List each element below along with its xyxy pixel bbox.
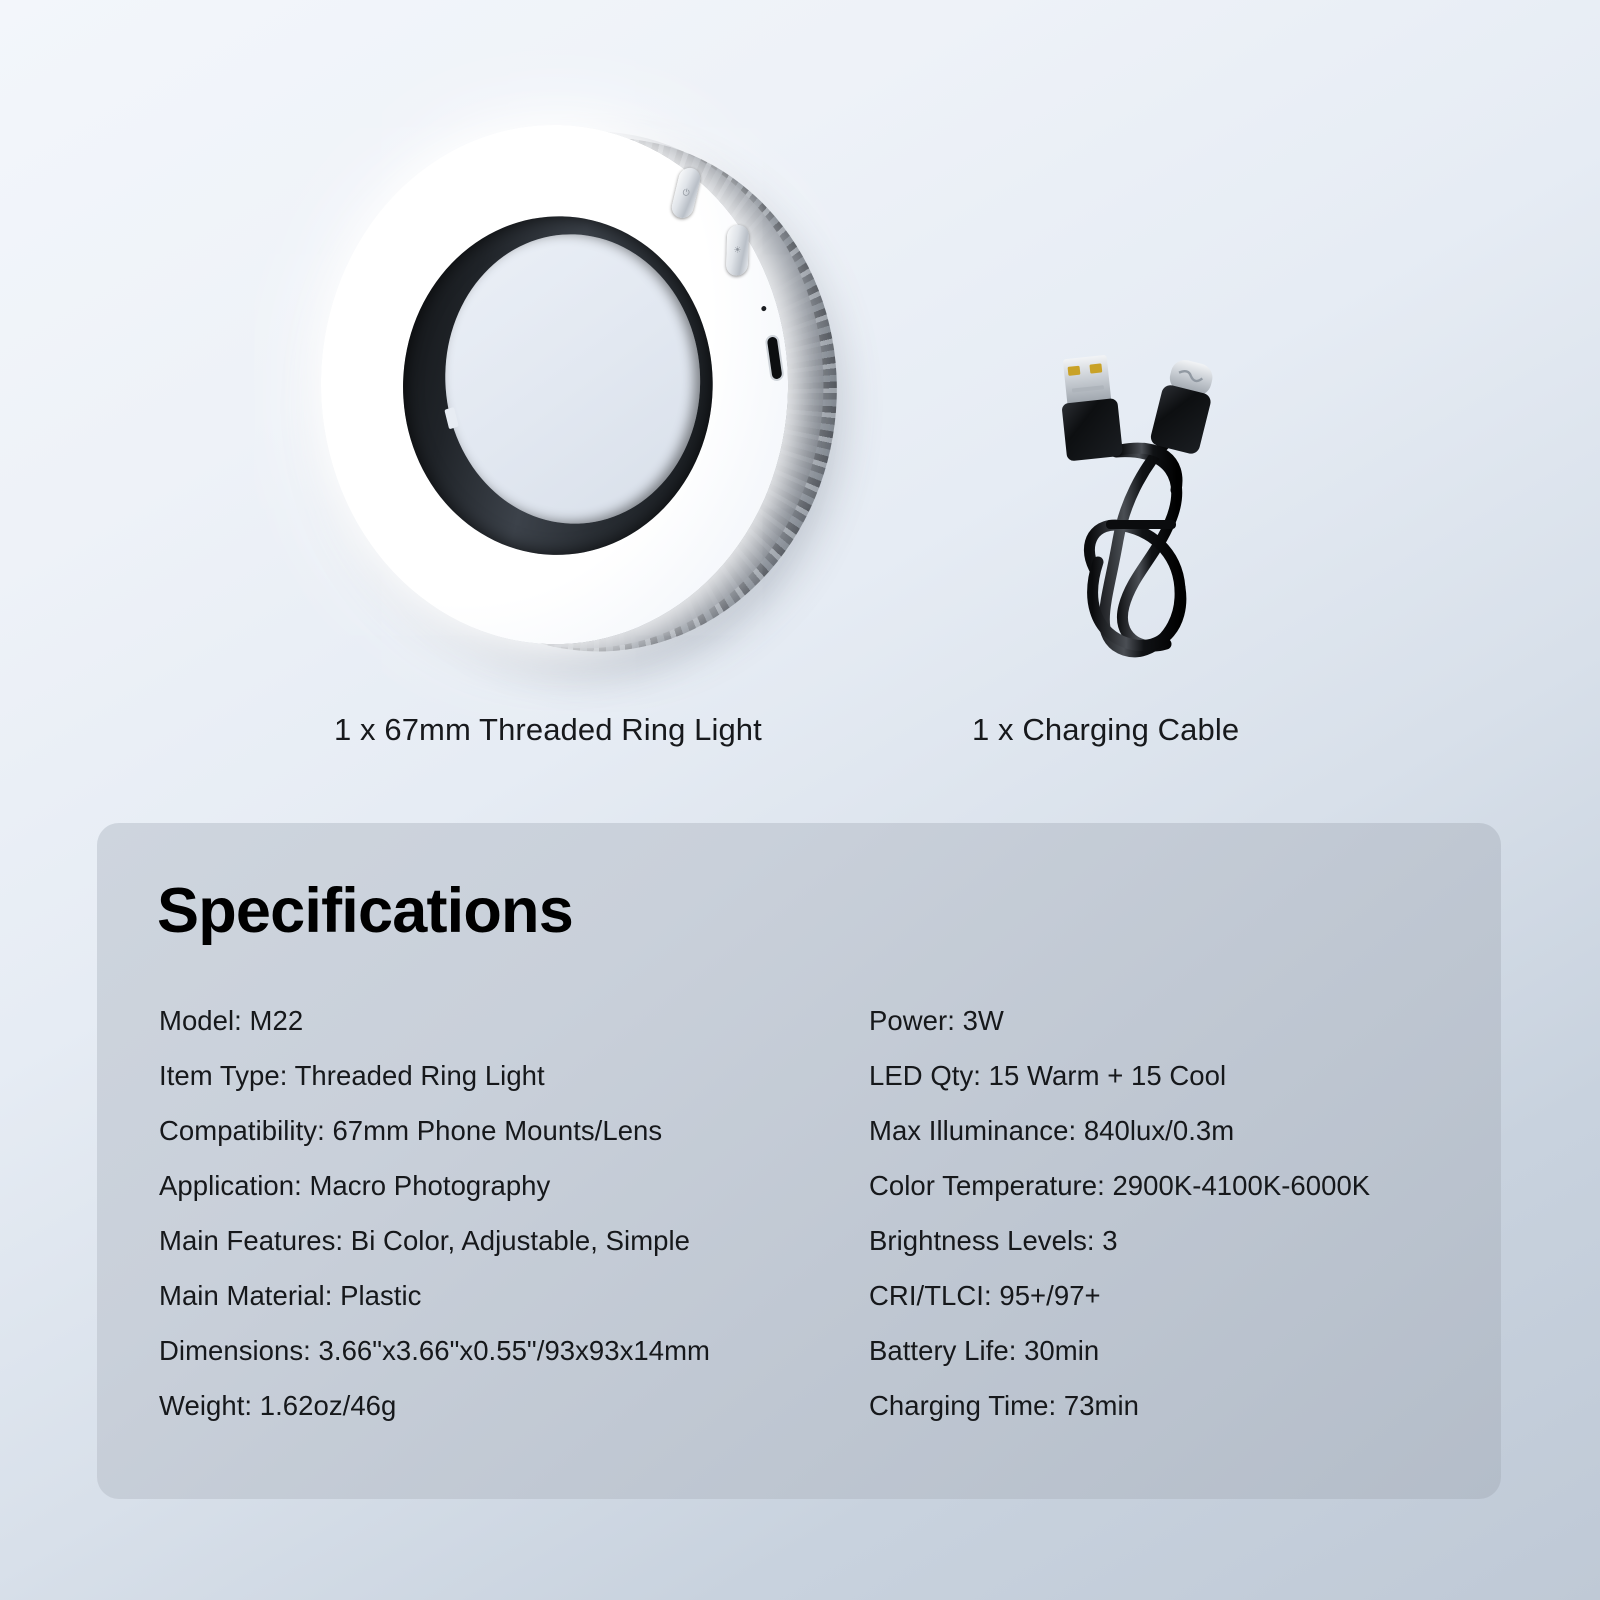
- spec-row: Item Type: Threaded Ring Light: [159, 1048, 859, 1103]
- spec-row: Max Illuminance: 840lux/0.3m: [869, 1103, 1469, 1158]
- ring-light-render: ⏻ ☀: [261, 44, 894, 740]
- product-showcase: ⏻ ☀: [0, 0, 1600, 800]
- brightness-glyph: ☀: [726, 246, 748, 255]
- specifications-heading: Specifications: [157, 875, 573, 947]
- specifications-panel: Specifications Model: M22Item Type: Thre…: [97, 823, 1501, 1499]
- spec-row: Brightness Levels: 3: [869, 1213, 1469, 1268]
- spec-row: Dimensions: 3.66"x3.66"x0.55"/93x93x14mm: [159, 1323, 859, 1378]
- spec-row: Compatibility: 67mm Phone Mounts/Lens: [159, 1103, 859, 1158]
- spec-row: Model: M22: [159, 993, 859, 1048]
- spec-row: LED Qty: 15 Warm + 15 Cool: [869, 1048, 1469, 1103]
- spec-row: Battery Life: 30min: [869, 1323, 1469, 1378]
- specifications-right-column: Power: 3WLED Qty: 15 Warm + 15 CoolMax I…: [869, 993, 1469, 1433]
- power-glyph: ⏻: [674, 186, 697, 199]
- spec-row: Charging Time: 73min: [869, 1378, 1469, 1433]
- specifications-columns: Model: M22Item Type: Threaded Ring Light…: [97, 993, 1501, 1433]
- ring-light-caption: 1 x 67mm Threaded Ring Light: [334, 712, 762, 748]
- spec-row: Main Features: Bi Color, Adjustable, Sim…: [159, 1213, 859, 1268]
- spec-row: Color Temperature: 2900K-4100K-6000K: [869, 1158, 1469, 1213]
- ring-light-product-image: ⏻ ☀: [318, 112, 838, 672]
- spec-row: Power: 3W: [869, 993, 1469, 1048]
- spec-row: CRI/TLCI: 95+/97+: [869, 1268, 1469, 1323]
- spec-row: Weight: 1.62oz/46g: [159, 1378, 859, 1433]
- specifications-left-column: Model: M22Item Type: Threaded Ring Light…: [159, 993, 859, 1433]
- charging-cable-product-image: [1020, 330, 1250, 660]
- spec-row: Application: Macro Photography: [159, 1158, 859, 1213]
- charging-cable-caption: 1 x Charging Cable: [972, 712, 1239, 748]
- brightness-button-icon: ☀: [726, 225, 749, 276]
- spec-row: Main Material: Plastic: [159, 1268, 859, 1323]
- charging-cable-illustration: [1020, 330, 1250, 660]
